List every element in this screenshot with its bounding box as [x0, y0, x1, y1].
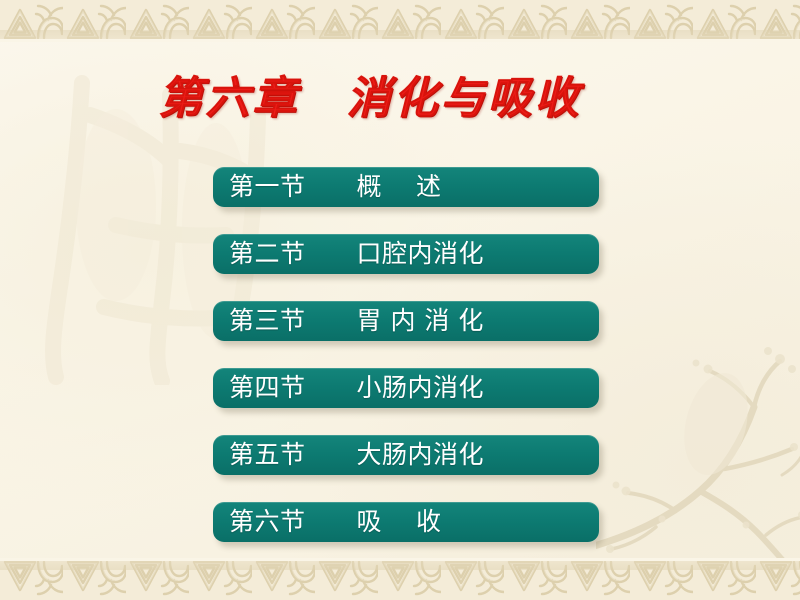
menu-item-section-4[interactable]: 第四节 小肠内消化 — [213, 368, 599, 408]
page-title: 第六章 消化与吸收 — [0, 62, 740, 126]
menu-item-section-2[interactable]: 第二节 口腔内消化 — [213, 234, 599, 274]
menu-item-label: 第六节 吸 收 — [213, 502, 441, 542]
menu-item-label: 第二节 口腔内消化 — [213, 234, 484, 274]
menu-item-label: 第三节 胃 内 消 化 — [213, 301, 484, 341]
menu-item-section-3[interactable]: 第三节 胃 内 消 化 — [213, 301, 599, 341]
menu-item-section-5[interactable]: 第五节 大肠内消化 — [213, 435, 599, 475]
menu-item-section-6[interactable]: 第六节 吸 收 — [213, 502, 599, 542]
section-menu: 第一节 概 述 第二节 口腔内消化 第三节 胃 内 消 化 第四节 小肠内消化 … — [213, 167, 603, 542]
menu-item-label: 第四节 小肠内消化 — [213, 368, 484, 408]
slide-canvas: 第六章 消化与吸收 第一节 概 述 第二节 口腔内消化 第三节 胃 内 消 化 … — [0, 0, 800, 600]
menu-item-label: 第五节 大肠内消化 — [213, 435, 484, 475]
menu-item-section-1[interactable]: 第一节 概 述 — [213, 167, 599, 207]
menu-item-label: 第一节 概 述 — [213, 167, 441, 207]
